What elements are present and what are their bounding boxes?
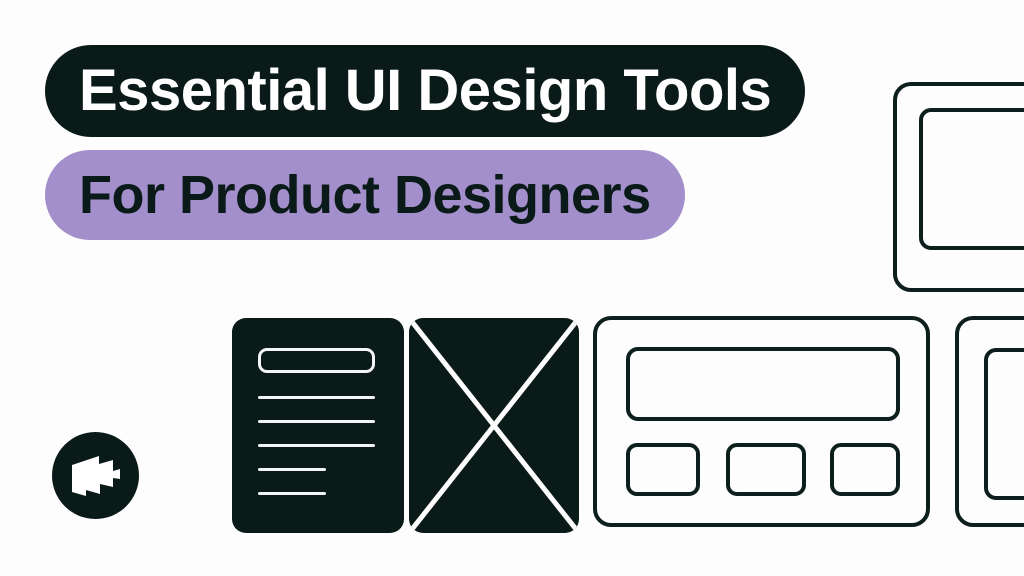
image-placeholder-wireframe-card bbox=[409, 318, 579, 533]
tile-2 bbox=[726, 443, 806, 496]
text-list-wireframe-card bbox=[232, 318, 404, 533]
layout-wireframe-card bbox=[593, 316, 930, 527]
text-line-3 bbox=[258, 444, 375, 447]
headline-pill-primary: Essential UI Design Tools bbox=[45, 45, 805, 137]
inner-frame bbox=[919, 108, 1024, 250]
inner-frame bbox=[984, 348, 1024, 500]
text-line-1 bbox=[258, 396, 375, 399]
poster-canvas: Essential UI Design Tools For Product De… bbox=[0, 0, 1024, 576]
hero-block bbox=[626, 347, 900, 421]
nested-frame-wireframe-card-bottom bbox=[955, 316, 1024, 527]
lightning-flag-icon bbox=[69, 453, 123, 499]
search-field-placeholder bbox=[258, 348, 375, 373]
headline-pill-secondary: For Product Designers bbox=[45, 150, 685, 240]
tile-1 bbox=[626, 443, 700, 496]
brand-logo-badge bbox=[52, 432, 139, 519]
tile-3 bbox=[830, 443, 900, 496]
text-line-4 bbox=[258, 468, 326, 471]
text-line-5 bbox=[258, 492, 326, 495]
headline-line-2: For Product Designers bbox=[79, 168, 651, 222]
headline-line-1: Essential UI Design Tools bbox=[79, 62, 771, 120]
text-line-2 bbox=[258, 420, 375, 423]
nested-frame-wireframe-card-top bbox=[893, 82, 1024, 292]
